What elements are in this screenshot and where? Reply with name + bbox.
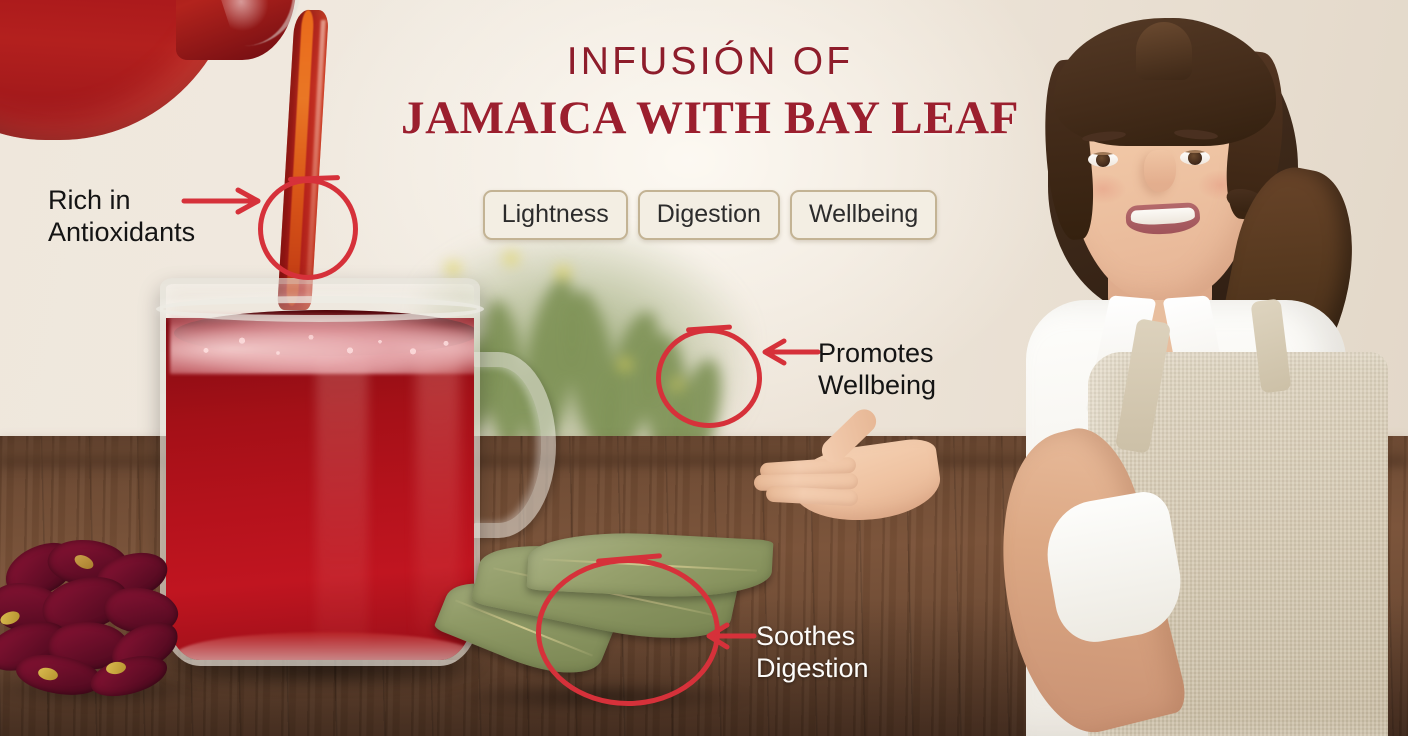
title-line-1: INFUSIÓN OF (400, 40, 1020, 84)
arrow-right-antioxidants (182, 186, 272, 216)
badge-digestion[interactable]: Digestion (638, 190, 780, 240)
eye-right (1180, 150, 1210, 165)
annotation-antioxidants-line2: Antioxidants (48, 216, 258, 248)
circle-highlight-herb (656, 328, 762, 428)
poster-title: INFUSIÓN OF JAMAICA WITH BAY LEAF (400, 40, 1020, 145)
annotation-digestion-line2: Digestion (756, 652, 956, 684)
annotation-digestion-label: Soothes Digestion (756, 620, 956, 685)
mug-rim (156, 296, 484, 322)
arrow-left-wellbeing (762, 338, 820, 366)
annotation-wellbeing-line2: Wellbeing (818, 369, 1018, 401)
badge-lightness[interactable]: Lightness (483, 190, 628, 240)
nose (1144, 150, 1176, 192)
circle-highlight-tea-stream (258, 178, 358, 280)
tea-bubbles (176, 324, 476, 368)
badge-wellbeing[interactable]: Wellbeing (790, 190, 937, 240)
annotation-digestion-line1: Soothes (756, 620, 956, 652)
hair-part (1136, 22, 1192, 80)
mug-body (160, 278, 480, 666)
annotation-wellbeing-label: Promotes Wellbeing (818, 337, 1018, 402)
arrow-left-digestion (706, 622, 756, 650)
title-line-2: JAMAICA WITH BAY LEAF (400, 91, 1020, 145)
dried-hibiscus-flowers (0, 540, 201, 710)
poster-canvas: INFUSIÓN OF JAMAICA WITH BAY LEAF Lightn… (0, 0, 1408, 736)
open-palm-hand (750, 420, 960, 528)
eye-left (1088, 152, 1118, 167)
annotation-wellbeing-line1: Promotes (818, 337, 1018, 369)
benefit-badges: Lightness Digestion Wellbeing (436, 190, 984, 240)
tea-highlight-left (316, 344, 368, 644)
circle-highlight-bay-leaves (536, 558, 720, 706)
